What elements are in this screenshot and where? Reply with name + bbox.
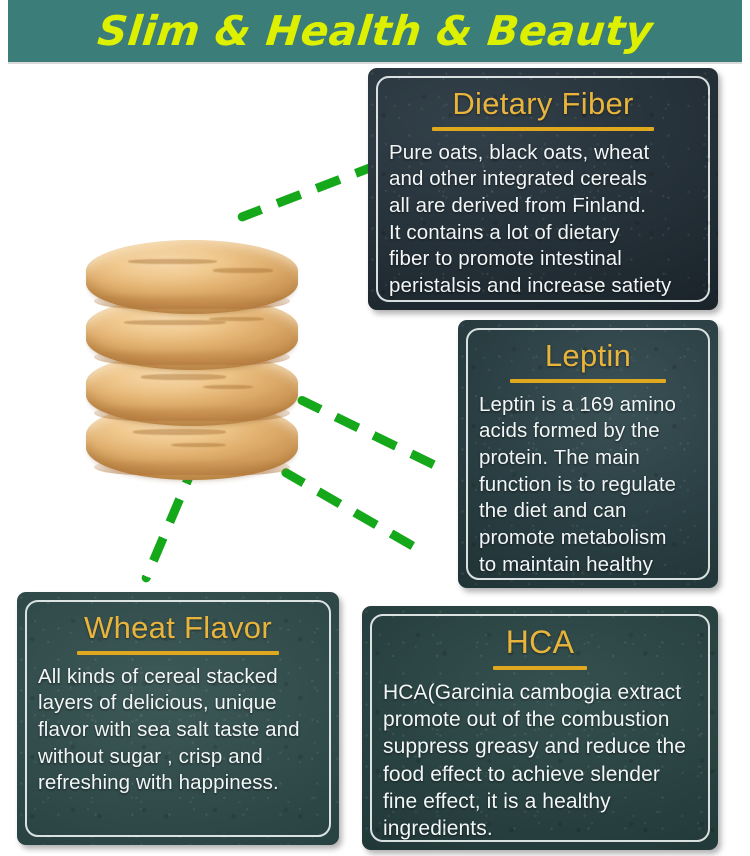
body-line: acids formed by the	[479, 418, 697, 445]
page-title: Slim & Health & Beauty	[95, 7, 655, 55]
title-underline	[493, 666, 587, 670]
hca-connector-line	[280, 467, 430, 559]
info-card-wheat-flavor: Wheat Flavor All kinds of cereal stacked…	[17, 592, 339, 845]
body-line: all are derived from Finland.	[389, 193, 697, 220]
body-line: layers of delicious, unique	[38, 690, 318, 717]
body-line: flavor with sea salt taste and	[38, 717, 318, 744]
body-line: protein. The main	[479, 445, 697, 472]
card-body-hca: HCA(Garcinia cambogia extract promote ou…	[383, 679, 697, 842]
header-banner: Slim & Health & Beauty	[8, 0, 742, 62]
title-underline	[510, 379, 667, 383]
info-card-dietary-fiber: Dietary Fiber Pure oats, black oats, whe…	[368, 68, 718, 310]
body-line: to maintain healthy	[479, 552, 697, 579]
infographic-poster: Slim & Health & Beauty Dietar	[0, 0, 750, 856]
card-inner-frame: Wheat Flavor All kinds of cereal stacked…	[25, 600, 331, 837]
card-title-dietary-fiber: Dietary Fiber	[389, 87, 697, 122]
product-image-cookie-stack	[86, 240, 298, 472]
cookie-layer-1	[86, 240, 298, 314]
body-line: fine effect, it is a healthy	[383, 788, 697, 815]
body-line: Pure oats, black oats, wheat	[389, 140, 697, 167]
leptin-connector-line	[296, 394, 444, 472]
body-line: Leptin is a 169 amino	[479, 392, 697, 419]
body-line: function is to regulate	[479, 472, 697, 499]
card-body-leptin: Leptin is a 169 amino acids formed by th…	[479, 392, 697, 580]
card-body-wheat-flavor: All kinds of cereal stacked layers of de…	[38, 664, 318, 797]
title-underline	[77, 651, 279, 655]
card-inner-frame: Dietary Fiber Pure oats, black oats, whe…	[376, 76, 710, 302]
body-line: It contains a lot of dietary	[389, 220, 697, 247]
info-card-hca: HCA HCA(Garcinia cambogia extract promot…	[362, 606, 718, 850]
body-line: refreshing with happiness.	[38, 770, 318, 797]
card-title-wheat-flavor: Wheat Flavor	[38, 611, 318, 646]
body-line: promote metabolism	[479, 525, 697, 552]
body-line: and other integrated cereals	[389, 166, 697, 193]
info-card-leptin: Leptin Leptin is a 169 amino acids forme…	[458, 320, 718, 588]
body-line: the diet and can	[479, 498, 697, 525]
body-line: peristalsis and increase satiety	[389, 273, 697, 300]
card-inner-frame: HCA HCA(Garcinia cambogia extract promot…	[370, 614, 710, 842]
fiber-connector-line	[236, 160, 381, 223]
body-line: promote out of the combustion	[383, 706, 697, 733]
body-line: fiber to promote intestinal	[389, 246, 697, 273]
card-body-dietary-fiber: Pure oats, black oats, wheat and other i…	[389, 140, 697, 300]
card-inner-frame: Leptin Leptin is a 169 amino acids forme…	[466, 328, 710, 580]
card-title-leptin: Leptin	[479, 339, 697, 374]
body-line: and slim body.	[479, 578, 697, 580]
body-line: suppress greasy and reduce the	[383, 733, 697, 760]
body-line: HCA(Garcinia cambogia extract	[383, 679, 697, 706]
body-line: food effect to achieve slender	[383, 761, 697, 788]
body-line: All kinds of cereal stacked	[38, 664, 318, 691]
card-title-hca: HCA	[383, 625, 697, 661]
title-underline	[432, 127, 654, 131]
body-line: without sugar , crisp and	[38, 744, 318, 771]
body-line: ingredients.	[383, 815, 697, 842]
